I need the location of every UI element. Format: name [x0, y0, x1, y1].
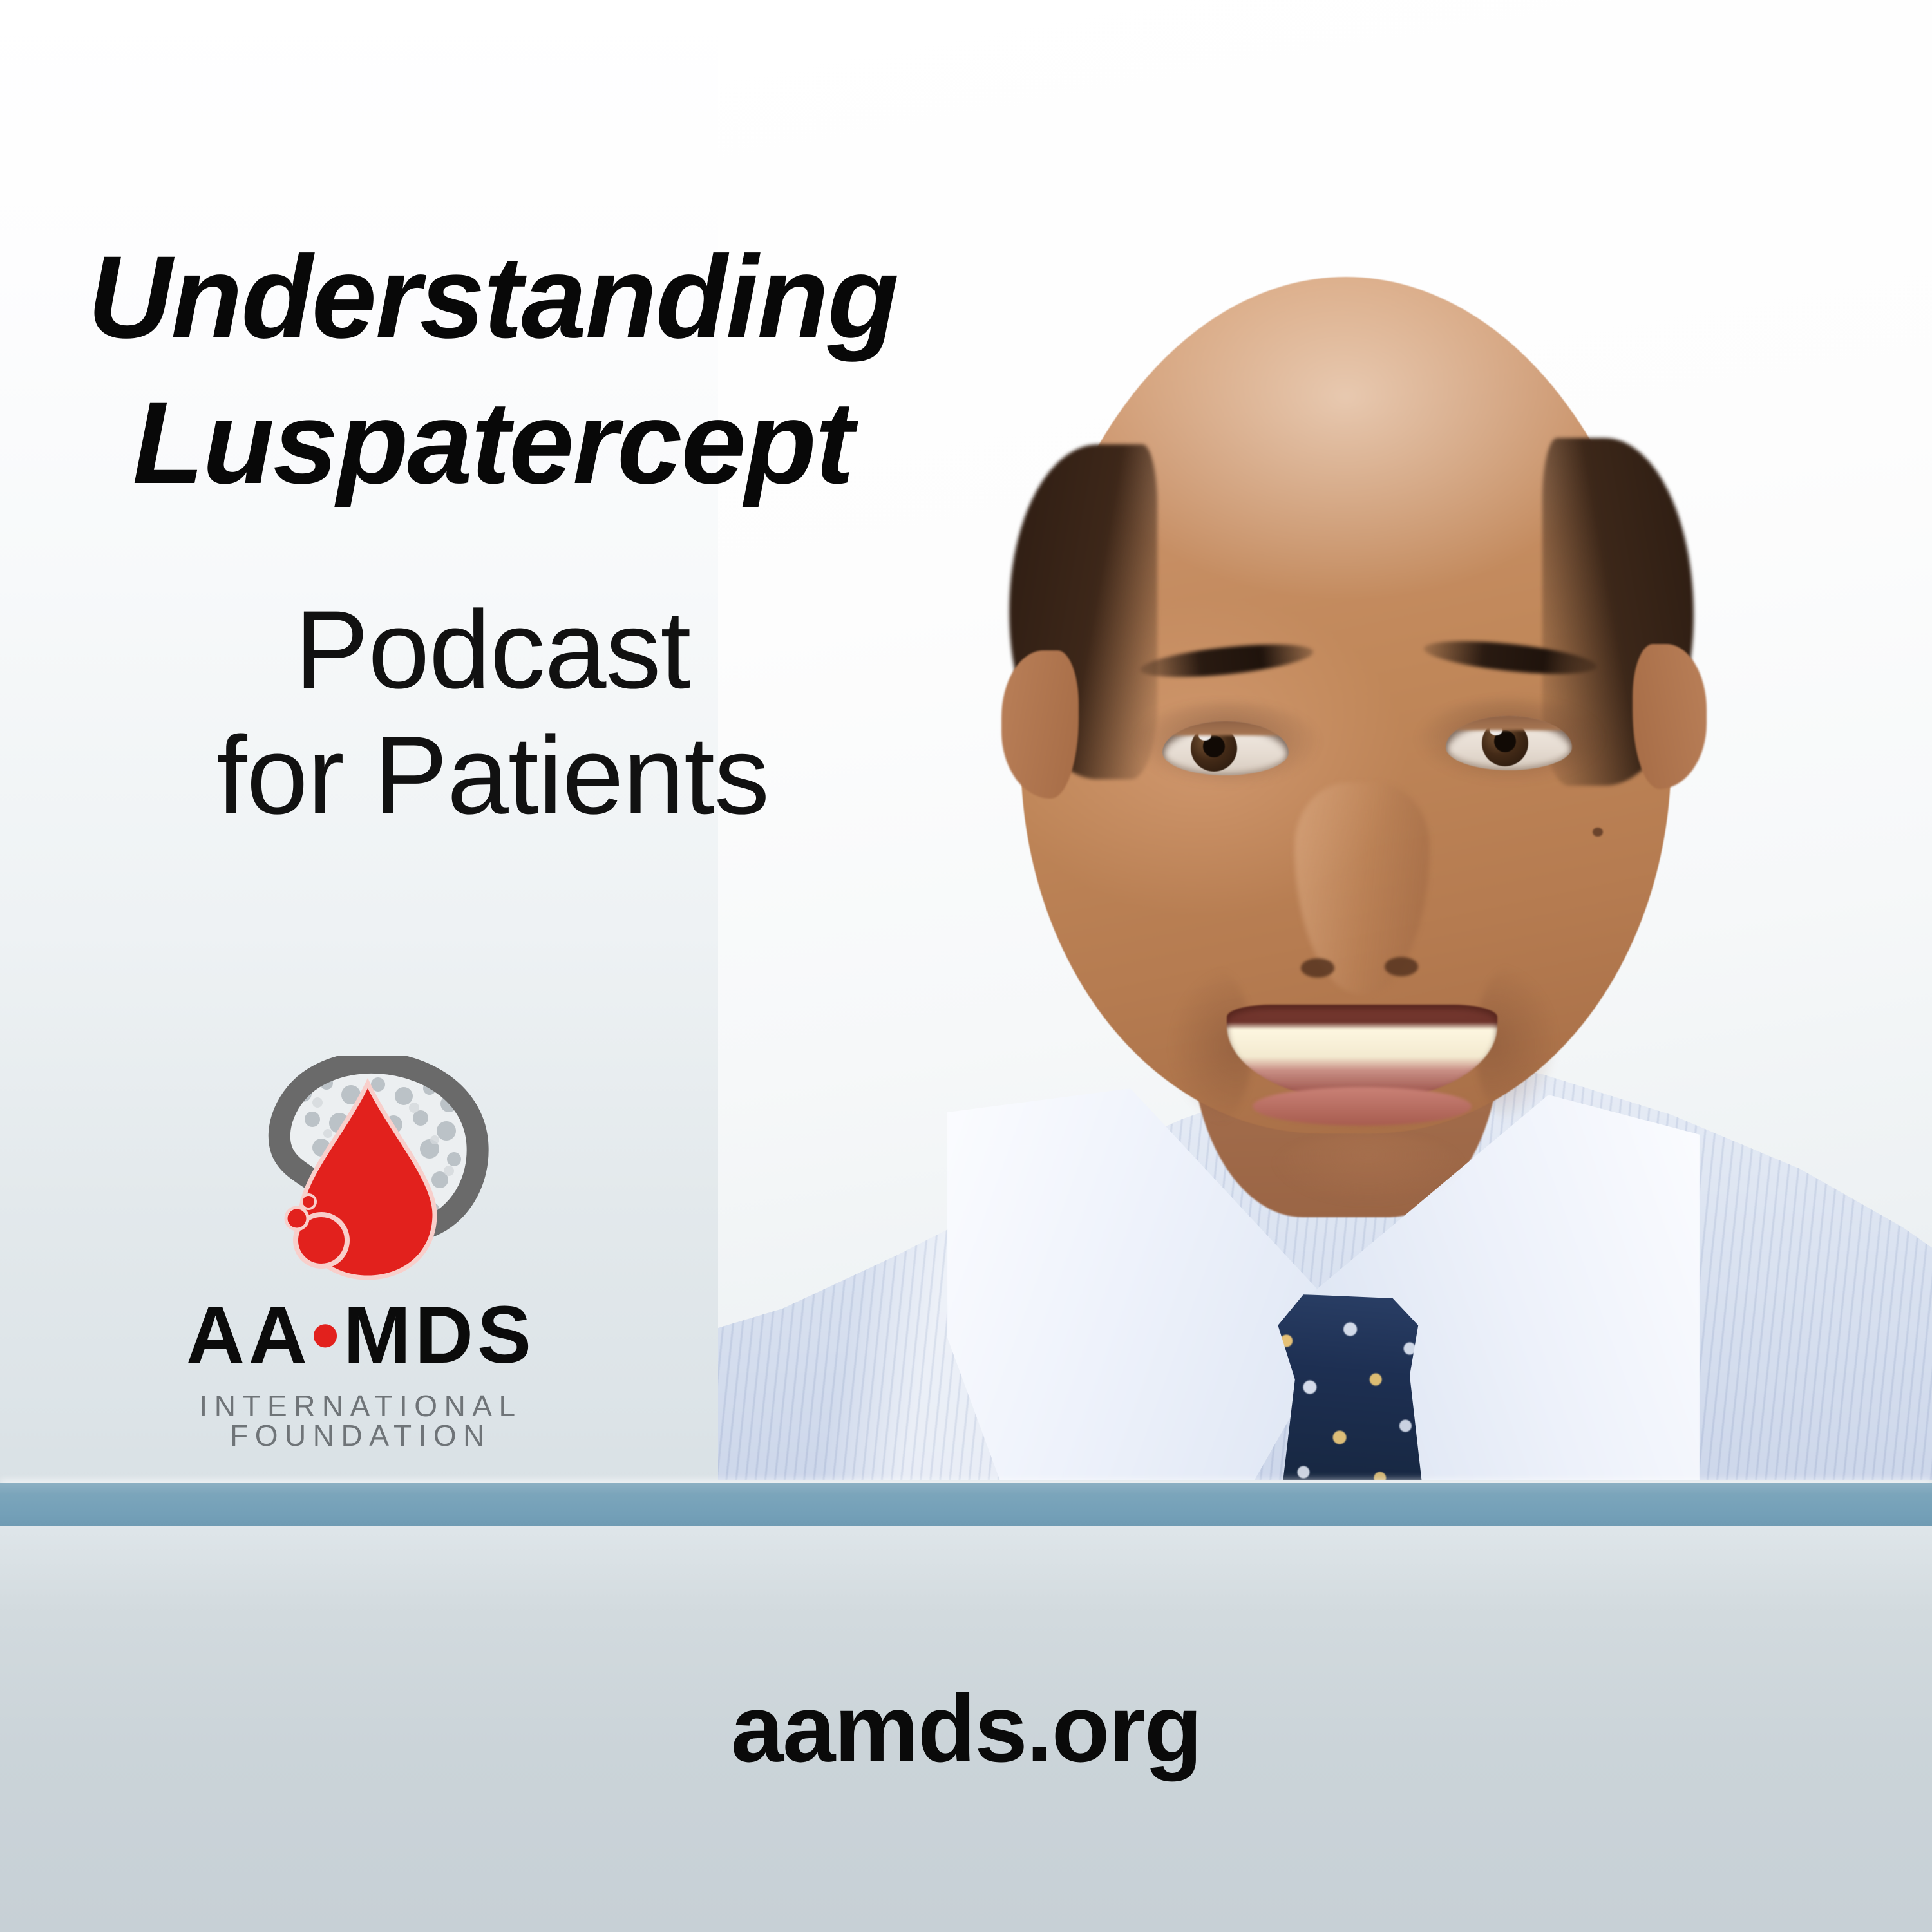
page-subtitle: Podcast for Patients [64, 592, 921, 833]
logo-wordmark: AA•MDS [138, 1294, 583, 1376]
page-title: Understanding Luspatercept [64, 238, 921, 501]
aamds-logo: AA•MDS INTERNATIONAL FOUNDATION [138, 1056, 583, 1430]
website-url[interactable]: aamds.org [0, 1674, 1932, 1784]
logo-wordmark-prefix: AA [186, 1289, 311, 1380]
title-line-2: Luspatercept [64, 384, 921, 501]
subtitle-line-1: Podcast [64, 592, 921, 708]
logo-wordmark-suffix: MDS [343, 1289, 535, 1380]
eyelid-left [1162, 721, 1289, 735]
chin [1272, 1133, 1465, 1204]
ear-right [1633, 644, 1707, 789]
eyelid-right [1446, 716, 1572, 730]
ear-left [1001, 650, 1079, 799]
podcast-cover-art: Understanding Luspatercept Podcast for P… [0, 0, 1932, 1932]
bone-marrow-blood-drop-icon [241, 1056, 493, 1288]
eye-right [1446, 716, 1572, 770]
eye-left [1162, 721, 1289, 775]
logo-wordmark-dot: • [311, 1289, 343, 1380]
cheek-mole [1593, 828, 1603, 837]
title-line-1: Understanding [64, 238, 921, 355]
nostril-right [1385, 957, 1418, 976]
logo-tagline: INTERNATIONAL FOUNDATION [138, 1391, 583, 1450]
accent-divider-bar [0, 1483, 1932, 1526]
blood-cell-small [286, 1207, 308, 1229]
lower-lip [1253, 1087, 1472, 1126]
subtitle-line-2: for Patients [64, 718, 921, 833]
nostril-left [1301, 958, 1334, 978]
blood-cell-tiny [301, 1195, 316, 1209]
